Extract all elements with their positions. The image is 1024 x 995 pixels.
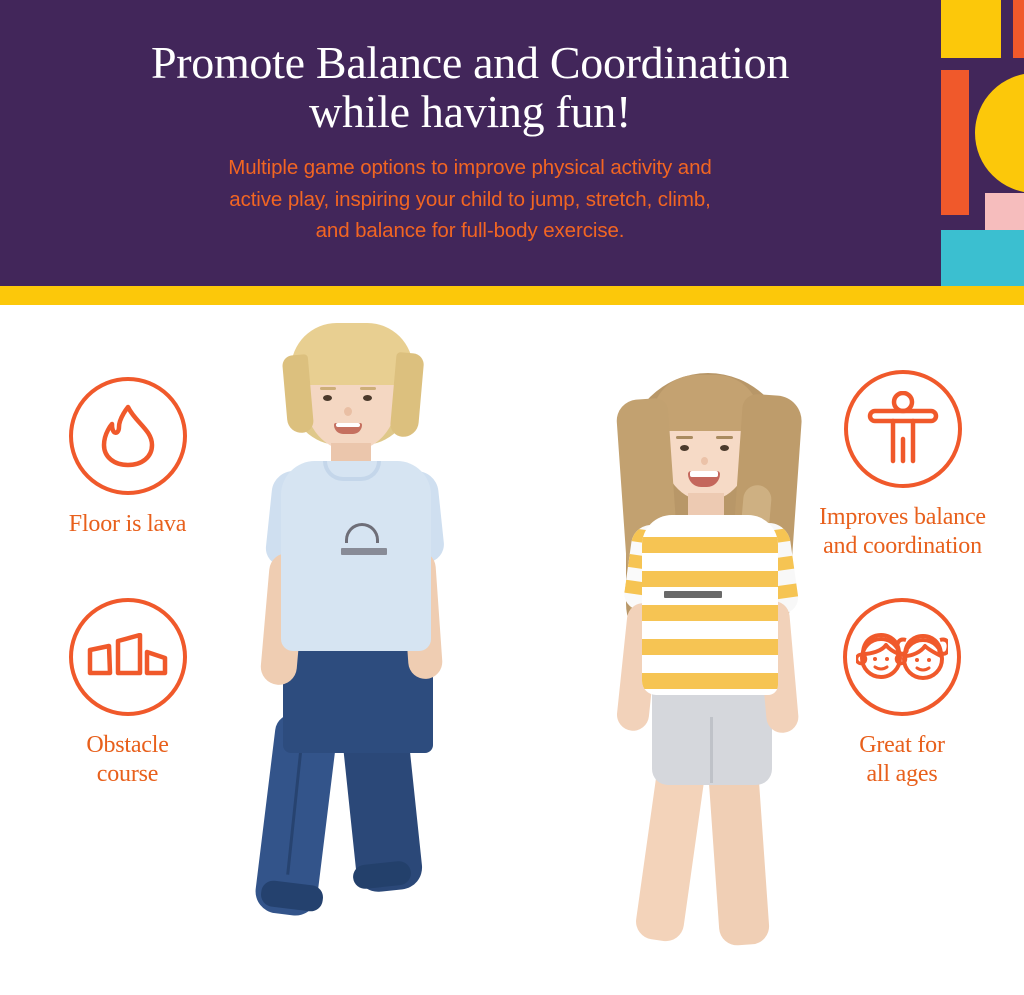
header-text-block: Promote Balance and Coordination while h… xyxy=(0,0,940,247)
decor-pink-rectangle xyxy=(985,193,1024,233)
boy-brow-right xyxy=(360,387,376,390)
marketing-infographic: Promote Balance and Coordination while h… xyxy=(0,0,1024,995)
headline-line-1: Promote Balance and Coordination xyxy=(151,37,789,88)
decor-yellow-rectangle xyxy=(941,0,1001,58)
flame-icon-badge xyxy=(69,377,187,495)
two-kids-faces-icon-badge xyxy=(843,598,961,716)
page-title: Promote Balance and Coordination while h… xyxy=(0,0,940,136)
girl-eye-right xyxy=(720,445,729,451)
boy-nose xyxy=(344,407,352,416)
girl-eye-left xyxy=(680,445,689,451)
subtitle-line-3: and balance for full-body exercise. xyxy=(86,215,854,246)
flame-icon xyxy=(97,402,159,470)
subtitle-line-1: Multiple game options to improve physica… xyxy=(86,152,854,183)
girl-shorts-seam xyxy=(710,717,713,783)
boy-hair-side-right xyxy=(389,352,424,438)
girl-nose xyxy=(701,457,708,465)
balance-figure-icon xyxy=(864,391,942,467)
girl-teeth xyxy=(690,471,718,477)
decor-yellow-circle xyxy=(975,73,1024,193)
balance-figure-icon-badge xyxy=(844,370,962,488)
boy-eye-right xyxy=(363,395,372,401)
stepping-stones-icon xyxy=(87,633,169,681)
child-girl xyxy=(600,365,820,945)
header-banner: Promote Balance and Coordination while h… xyxy=(0,0,1024,286)
feature-great-for-all-ages[interactable]: Great for all ages xyxy=(812,598,992,790)
girl-brow-right xyxy=(716,436,733,439)
subtitle-line-2: active play, inspiring your child to jum… xyxy=(86,184,854,215)
decor-orange-bar xyxy=(941,70,969,215)
boy-hair-fringe xyxy=(295,359,409,385)
two-kids-faces-icon xyxy=(856,630,948,684)
feature-panel: Floor is lava Obstacle course xyxy=(0,305,1024,995)
stepping-stones-icon-badge xyxy=(69,598,187,716)
decor-teal-stem xyxy=(990,230,1024,286)
boy-tshirt xyxy=(281,461,431,651)
feature-label: Floor is lava xyxy=(45,510,210,539)
child-boy xyxy=(245,315,475,935)
page-subtitle: Multiple game options to improve physica… xyxy=(0,136,940,246)
feature-label: Obstacle course xyxy=(45,731,210,790)
headline-line-2: while having fun! xyxy=(30,87,910,136)
feature-floor-is-lava[interactable]: Floor is lava xyxy=(45,377,210,539)
boy-teeth xyxy=(336,423,360,427)
feature-improves-balance[interactable]: Improves balance and coordination xyxy=(790,370,1015,562)
feature-obstacle-course[interactable]: Obstacle course xyxy=(45,598,210,790)
decor-orange-rectangle xyxy=(1013,0,1024,58)
girl-leg-left xyxy=(634,759,707,944)
boy-eye-left xyxy=(323,395,332,401)
feature-label: Improves balance and coordination xyxy=(790,503,1015,562)
girl-striped-top xyxy=(642,515,778,695)
girl-top-graphic xyxy=(664,591,722,598)
boy-tshirt-logo-text xyxy=(341,548,387,555)
feature-label: Great for all ages xyxy=(812,731,992,790)
boy-brow-left xyxy=(320,387,336,390)
yellow-divider-bar xyxy=(0,286,1024,305)
girl-brow-left xyxy=(676,436,693,439)
girl-leg-right xyxy=(708,761,771,946)
